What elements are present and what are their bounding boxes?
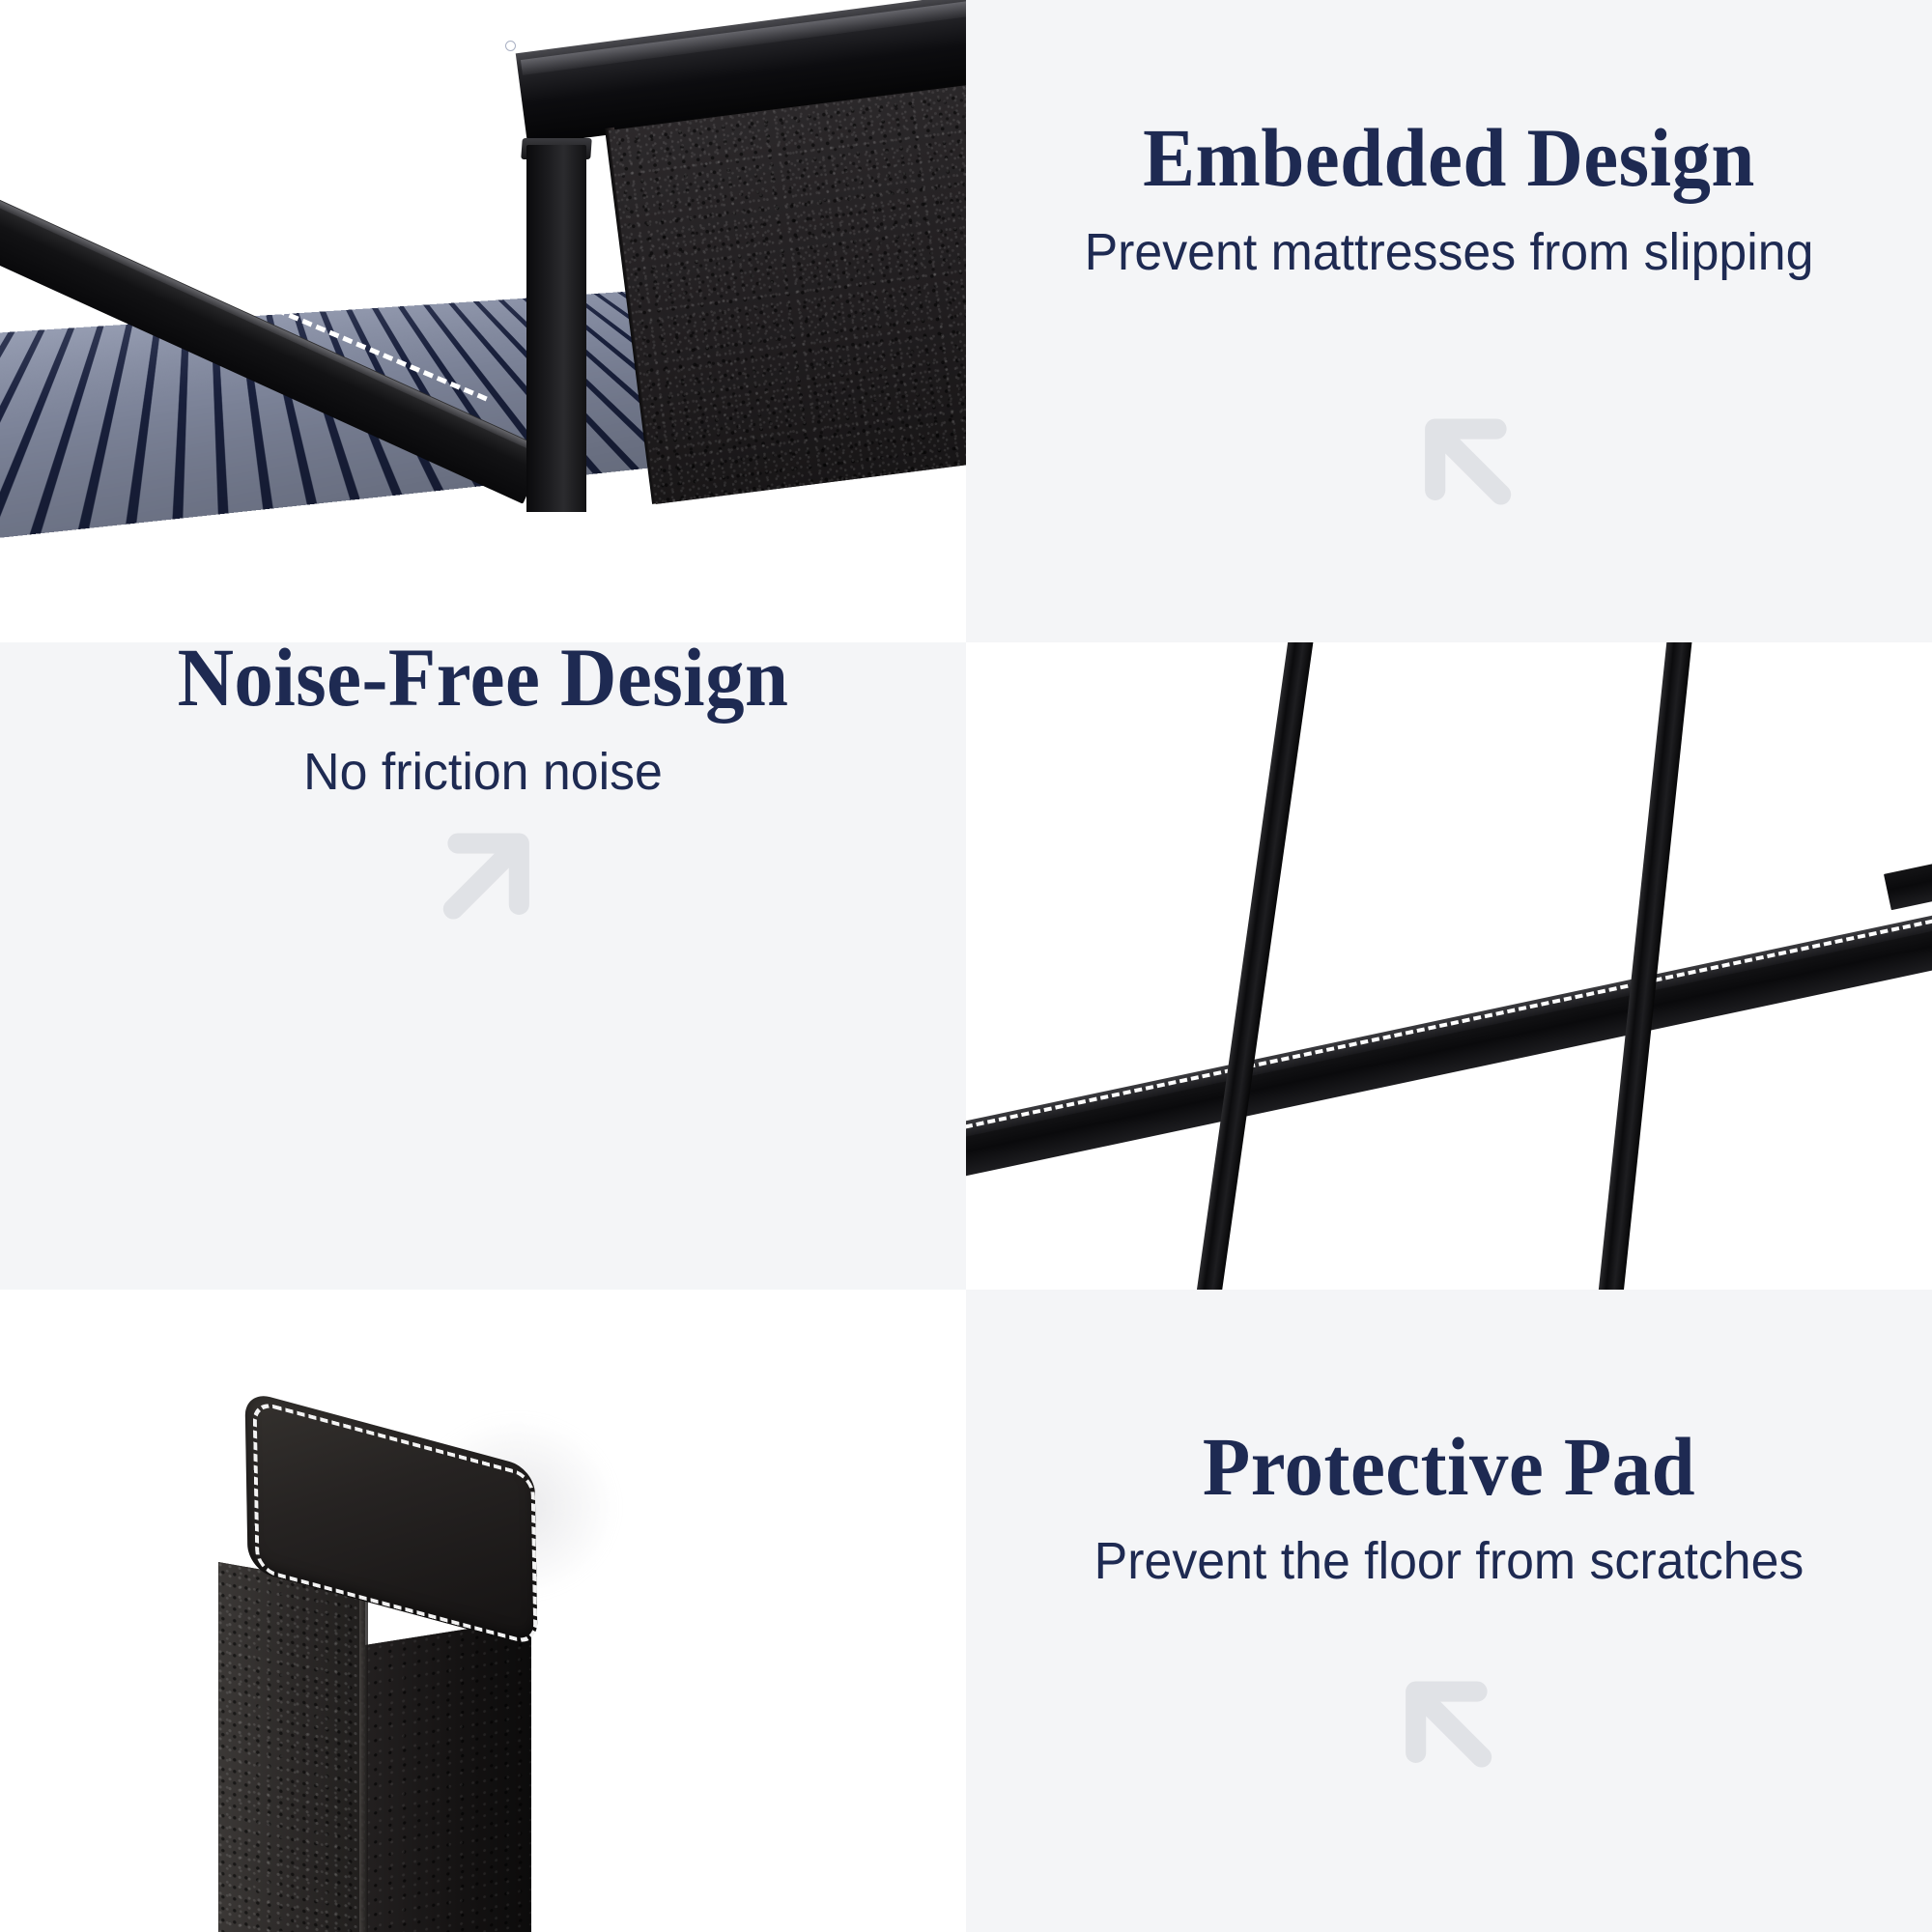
embedded-dashed-outline-top [90,3,533,147]
noise-free-design-title: Noise-Free Design [56,642,910,719]
protective-pad-textblock: Protective Pad Prevent the floor from sc… [966,1425,1932,1591]
bed-frame-corner-photo [0,0,966,642]
arrow-up-left-icon [1405,401,1532,528]
slat-grid-photo-canvas [966,642,1932,1290]
arrow-up-left-icon [1385,1663,1513,1791]
panel-noise-free-design: Noise-Free Design No friction noise [0,642,966,1290]
embedded-design-textblock: Embedded Design Prevent mattresses from … [966,116,1932,282]
protective-pad-subtitle: Prevent the floor from scratches [1013,1531,1885,1591]
embedded-dashed-outline-side [512,0,517,190]
headboard-panel [609,78,966,504]
panel-protective-pad: Protective Pad Prevent the floor from sc… [966,1290,1932,1932]
leg-post-photo [0,1290,966,1932]
noise-free-design-textblock: Noise-Free Design No friction noise [0,642,966,802]
corner-leg-post [526,145,586,512]
deck-screw-icon [505,41,516,51]
support-bar-2 [1173,642,1329,1290]
slat-grid-photo [966,642,1932,1290]
cross-beam-segment [1884,846,1932,910]
panel-embedded-design: Embedded Design Prevent mattresses from … [966,0,1932,642]
arrow-up-right-icon [422,815,550,943]
support-bar-3 [1582,642,1706,1290]
embedded-design-subtitle: Prevent mattresses from slipping [1013,222,1885,282]
leg-post-corner-edge [359,1579,368,1932]
leg-post-photo-canvas [0,1290,966,1932]
noise-free-design-subtitle: No friction noise [47,742,919,802]
product-feature-infographic: Embedded Design Prevent mattresses from … [0,0,1932,1932]
leg-post-face-right [365,1619,531,1932]
embedded-design-title: Embedded Design [1022,116,1876,199]
bed-frame-photo-canvas [0,0,966,642]
leg-post-face-left [218,1562,365,1932]
protective-pad-title: Protective Pad [1022,1425,1876,1508]
